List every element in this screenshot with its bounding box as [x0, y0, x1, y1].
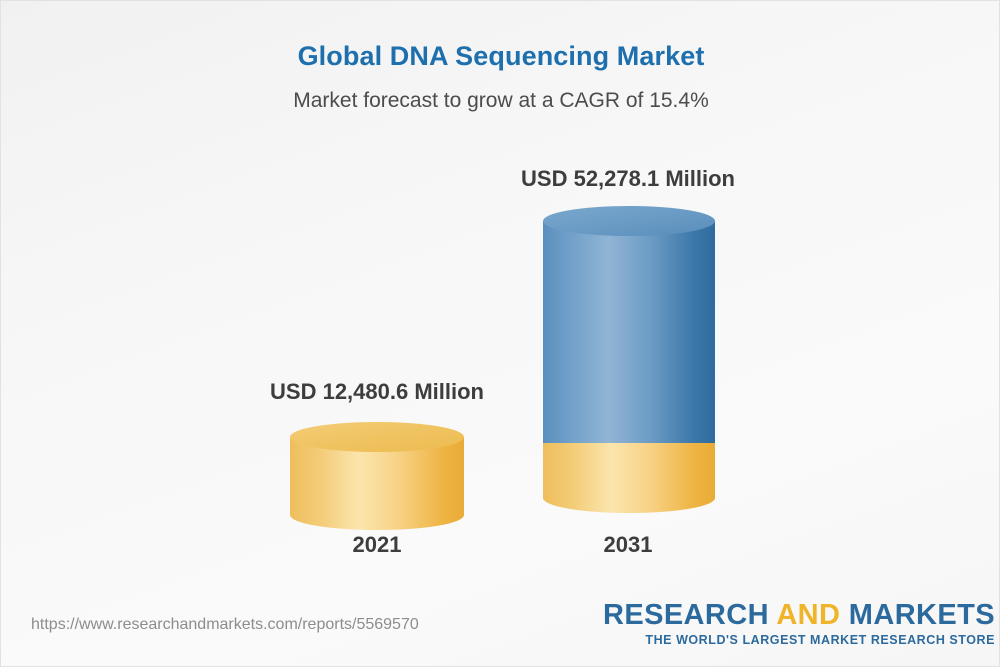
axis-label-2031: 2031	[428, 532, 828, 558]
source-url-link[interactable]: https://www.researchandmarkets.com/repor…	[31, 616, 419, 634]
logo-text-markets: MARKETS	[840, 599, 995, 631]
bar-cylinder-2031	[543, 206, 715, 526]
bar-segment-base-2031	[543, 443, 715, 498]
research-and-markets-logo[interactable]: RESEARCH AND MARKETS THE WORLD'S LARGEST…	[603, 600, 995, 647]
value-label-2031: USD 52,278.1 Million	[428, 166, 828, 192]
chart-plot-area: USD 52,278.1 Million USD 12,480.6 Millio…	[1, 1, 1000, 601]
logo-text-and: AND	[776, 599, 840, 631]
footer: https://www.researchandmarkets.com/repor…	[1, 594, 1000, 666]
infographic-chart-card: Global DNA Sequencing Market Market fore…	[0, 0, 1000, 667]
bar-cylinder-2021	[290, 422, 464, 522]
value-label-2021: USD 12,480.6 Million	[177, 379, 577, 405]
bar-top-cap-2031	[543, 206, 715, 236]
bar-segment-growth-2031	[543, 221, 715, 443]
logo-text-research: RESEARCH	[603, 599, 776, 631]
logo-tagline: THE WORLD'S LARGEST MARKET RESEARCH STOR…	[603, 633, 995, 647]
logo-wordmark: RESEARCH AND MARKETS	[603, 600, 995, 630]
bar-top-cap-2021	[290, 422, 464, 452]
